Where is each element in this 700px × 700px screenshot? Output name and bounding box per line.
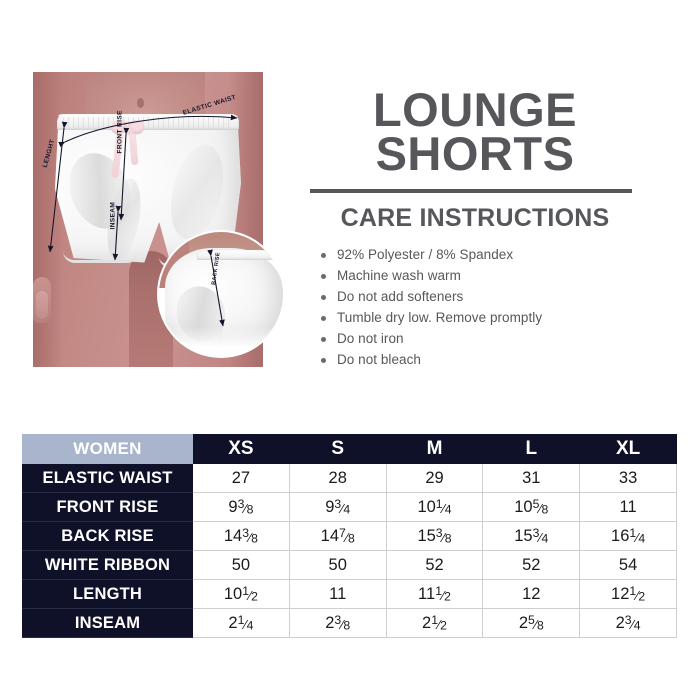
waistband-texture [63,117,233,128]
table-header-row: WOMEN XSSMLXL [23,435,677,464]
care-instruction-item: Do not add softeners [318,289,640,304]
arrow-back-rise [159,232,283,356]
measurement-value: 31 [483,464,580,493]
elastic-waistband [57,114,239,130]
care-instruction-item: 92% Polyester / 8% Spandex [318,247,640,262]
care-instruction-item: Do not iron [318,331,640,346]
measurement-value: 54 [580,551,677,580]
care-instruction-item: Machine wash warm [318,268,640,283]
title-divider [310,189,632,193]
size-chart-table: WOMEN XSSMLXL ELASTIC WAIST2728293133FRO… [22,434,677,638]
table-corner-women: WOMEN [23,435,193,464]
measurement-value: 101⁄2 [193,580,290,609]
table-row: ELASTIC WAIST2728293133 [23,464,677,493]
size-column-header: L [483,435,580,464]
measurement-value: 105⁄8 [483,493,580,522]
measurement-row-label: BACK RISE [23,522,193,551]
size-column-header: XL [580,435,677,464]
measurement-value: 29 [386,464,483,493]
model-hand [33,277,51,323]
measurement-value: 27 [193,464,290,493]
product-figure: ELASTIC WAIST LENGHT FRONT RISE INSEAM [33,72,295,375]
measurement-value: 93⁄8 [193,493,290,522]
measurement-value: 11 [289,580,386,609]
measurement-value: 23⁄8 [289,609,386,638]
measurement-value: 21⁄2 [386,609,483,638]
bow-tail-right [129,131,139,165]
measurement-value: 33 [580,464,677,493]
shorts-hem-left [63,234,137,263]
measurement-value: 23⁄4 [580,609,677,638]
size-chart-body: ELASTIC WAIST2728293133FRONT RISE93⁄893⁄… [23,464,677,638]
measurement-row-label: FRONT RISE [23,493,193,522]
measurement-row-label: ELASTIC WAIST [23,464,193,493]
measurement-value: 121⁄2 [580,580,677,609]
table-row: FRONT RISE93⁄893⁄4101⁄4105⁄811 [23,493,677,522]
measurement-value: 52 [483,551,580,580]
page-title-line-2: SHORTS [310,132,640,176]
measurement-value: 12 [483,580,580,609]
model-navel [137,98,144,108]
measurement-value: 50 [289,551,386,580]
measurement-value: 101⁄4 [386,493,483,522]
table-row: LENGTH101⁄211111⁄212121⁄2 [23,580,677,609]
measurement-value: 28 [289,464,386,493]
measurement-row-label: WHITE RIBBON [23,551,193,580]
table-row: BACK RISE143⁄8147⁄8153⁄8153⁄4161⁄4 [23,522,677,551]
size-column-header: M [386,435,483,464]
size-chart-head: WOMEN XSSMLXL [23,435,677,464]
measurement-value: 50 [193,551,290,580]
bow-knot [124,126,134,135]
measurement-value: 25⁄8 [483,609,580,638]
care-instructions-heading: CARE INSTRUCTIONS [310,204,640,233]
label-front-rise: FRONT RISE [117,110,124,153]
care-instruction-item: Do not bleach [318,352,640,367]
table-row: INSEAM21⁄423⁄821⁄225⁄823⁄4 [23,609,677,638]
measurement-value: 93⁄4 [289,493,386,522]
size-column-header: XS [193,435,290,464]
table-row: WHITE RIBBON5050525254 [23,551,677,580]
header-section: ELASTIC WAIST LENGHT FRONT RISE INSEAM [0,0,700,420]
measurement-row-label: INSEAM [23,609,193,638]
measurement-value: 111⁄2 [386,580,483,609]
measurement-value: 153⁄8 [386,522,483,551]
label-inseam: INSEAM [110,202,117,230]
measurement-value: 143⁄8 [193,522,290,551]
measurement-value: 11 [580,493,677,522]
title-block: LOUNGE SHORTS CARE INSTRUCTIONS 92% Poly… [310,88,640,373]
measurement-row-label: LENGTH [23,580,193,609]
measurement-value: 153⁄4 [483,522,580,551]
measurement-value: 21⁄4 [193,609,290,638]
measurement-value: 52 [386,551,483,580]
care-instruction-item: Tumble dry low. Remove promptly [318,310,640,325]
care-instructions-list: 92% Polyester / 8% SpandexMachine wash w… [318,247,640,367]
size-column-header: S [289,435,386,464]
measurement-value: 161⁄4 [580,522,677,551]
measurement-value: 147⁄8 [289,522,386,551]
back-view-inset: BACK RISE [159,232,283,356]
page-title-line-1: LOUNGE [310,88,640,132]
